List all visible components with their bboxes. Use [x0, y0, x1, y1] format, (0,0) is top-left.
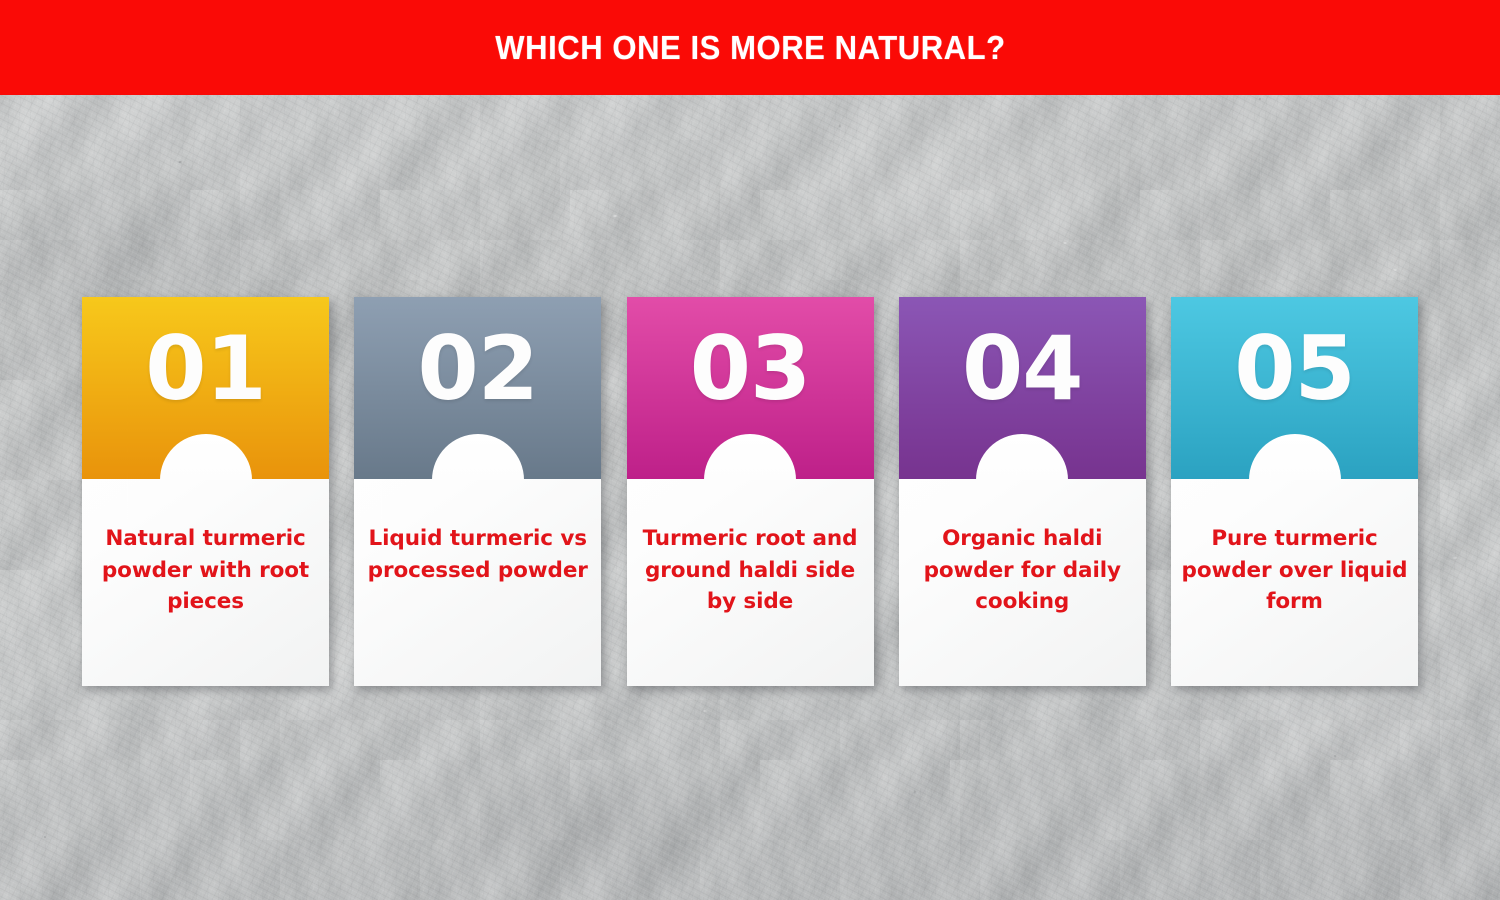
card-color-panel: 02: [354, 297, 601, 479]
numbered-cards-row: 01 Natural turmeric powder with root pie…: [82, 297, 1418, 686]
card-notch-bump: [432, 434, 524, 480]
card-03[interactable]: 03 Turmeric root and ground haldi side b…: [627, 297, 874, 686]
card-color-panel: 01: [82, 297, 329, 479]
card-number: 04: [899, 325, 1146, 413]
card-02[interactable]: 02 Liquid turmeric vs processed powder: [354, 297, 601, 686]
header-banner: WHICH ONE IS MORE NATURAL?: [0, 0, 1500, 95]
card-notch-bump: [704, 434, 796, 480]
card-notch-bump: [1249, 434, 1341, 480]
card-caption: Natural turmeric powder with root pieces: [90, 523, 321, 618]
card-caption: Pure turmeric powder over liquid form: [1179, 523, 1410, 618]
card-color-panel: 03: [627, 297, 874, 479]
card-number: 01: [82, 325, 329, 413]
card-01[interactable]: 01 Natural turmeric powder with root pie…: [82, 297, 329, 686]
card-number: 02: [354, 325, 601, 413]
card-notch-bump: [160, 434, 252, 480]
infographic-canvas: WHICH ONE IS MORE NATURAL? 01 Natural tu…: [0, 0, 1500, 900]
card-number: 05: [1171, 325, 1418, 413]
card-color-panel: 04: [899, 297, 1146, 479]
card-05[interactable]: 05 Pure turmeric powder over liquid form: [1171, 297, 1418, 686]
card-caption: Organic haldi powder for daily cooking: [907, 523, 1138, 618]
card-number: 03: [627, 325, 874, 413]
card-notch-bump: [976, 434, 1068, 480]
card-caption: Liquid turmeric vs processed powder: [362, 523, 593, 586]
card-04[interactable]: 04 Organic haldi powder for daily cookin…: [899, 297, 1146, 686]
card-color-panel: 05: [1171, 297, 1418, 479]
card-caption: Turmeric root and ground haldi side by s…: [635, 523, 866, 618]
page-title: WHICH ONE IS MORE NATURAL?: [495, 29, 1005, 67]
